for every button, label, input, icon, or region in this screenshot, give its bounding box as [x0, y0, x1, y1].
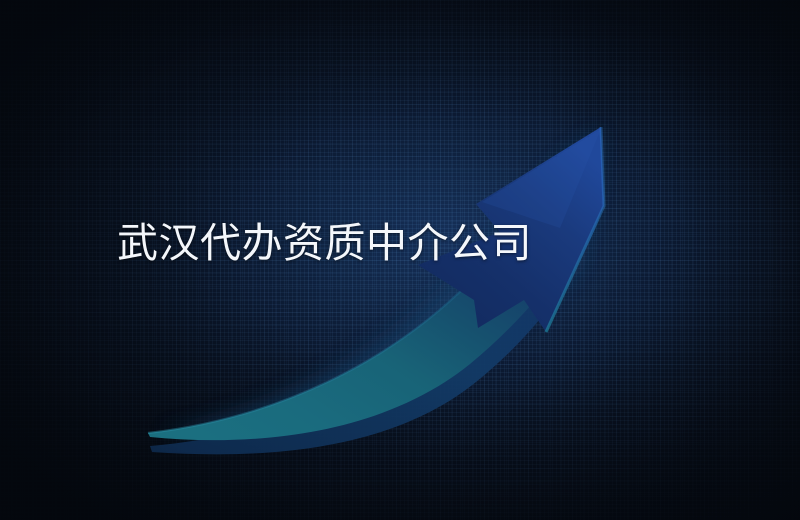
page-title: 武汉代办资质中介公司	[117, 216, 532, 270]
banner-image: 武汉代办资质中介公司	[0, 0, 800, 520]
